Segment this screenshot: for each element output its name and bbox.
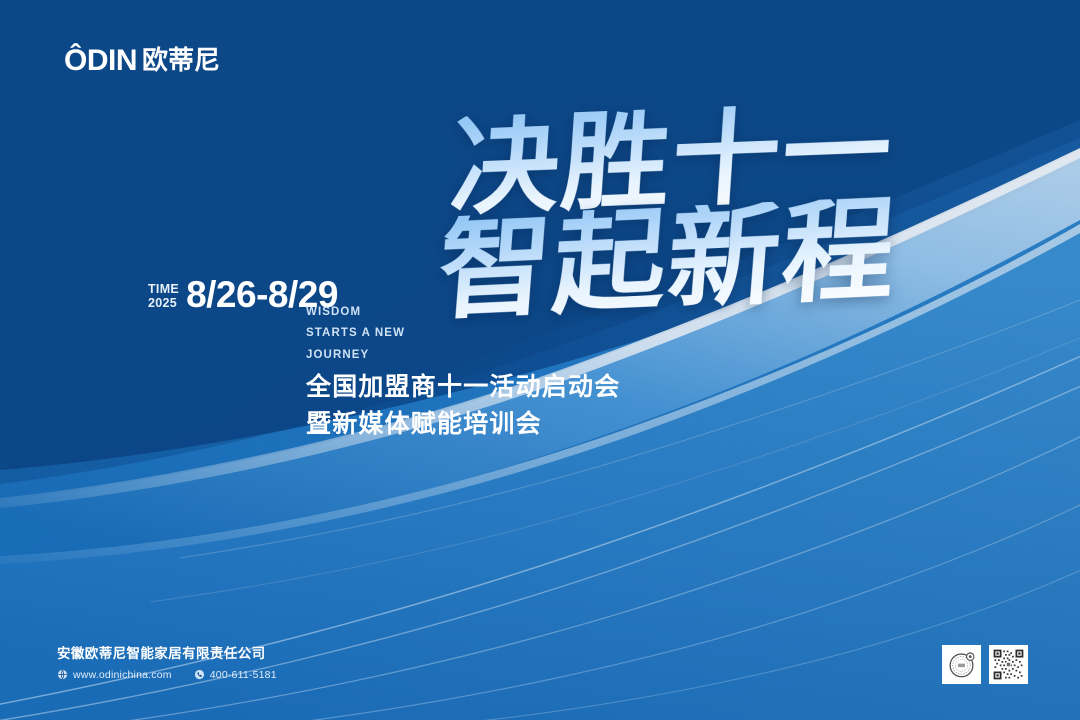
qr-code-icon: [991, 647, 1026, 682]
footer-info: 安徽欧蒂尼智能家居有限责任公司 www.odinichina.com 400-6…: [57, 645, 277, 681]
event-subtitle: 全国加盟商十一活动启动会 暨新媒体赋能培训会: [306, 369, 620, 442]
headline-line-1: 决胜十一: [448, 99, 914, 220]
phone-contact[interactable]: 400-611-5181: [194, 669, 277, 681]
tagline-line-3: JOURNEY: [306, 345, 405, 366]
phone-text: 400-611-5181: [210, 669, 277, 681]
english-tagline: WISDOM STARTS A NEW JOURNEY: [306, 302, 405, 366]
time-label-stack: TIME 2025: [148, 279, 179, 310]
brand-logo[interactable]: ÔDIN 欧蒂尼: [64, 44, 220, 78]
website-text: www.odinichina.com: [73, 669, 172, 681]
logo-chinese-text: 欧蒂尼: [142, 47, 220, 73]
tagline-line-2: STARTS A NEW: [306, 323, 405, 344]
tagline-line-1: WISDOM: [306, 302, 405, 323]
time-label: TIME: [148, 283, 179, 296]
year-label: 2025: [148, 297, 179, 310]
subtitle-line-2: 暨新媒体赋能培训会: [306, 406, 620, 443]
headline-line-2: 智起新程: [435, 195, 915, 324]
subtitle-line-1: 全国加盟商十一活动启动会: [306, 369, 620, 406]
code-tiles: [942, 645, 1028, 684]
seal-icon: [944, 647, 979, 682]
poster-canvas: ÔDIN 欧蒂尼 决胜十一 智起新程 TIME 2025 8/26-8/29 W…: [0, 0, 1080, 720]
company-name: 安徽欧蒂尼智能家居有限责任公司: [57, 645, 277, 663]
wechat-qr-code[interactable]: [989, 645, 1028, 684]
logo-wordmark-text: ÔDIN: [64, 46, 137, 76]
background-artwork: [0, 0, 1080, 720]
phone-icon: [194, 669, 205, 680]
contact-row: www.odinichina.com 400-611-5181: [57, 669, 277, 681]
globe-icon: [57, 669, 68, 680]
website-contact[interactable]: www.odinichina.com: [57, 669, 172, 681]
official-seal-code[interactable]: [942, 645, 981, 684]
logo-wordmark-icon: ÔDIN: [64, 46, 137, 76]
headline-calligraphy: 决胜十一 智起新程: [440, 108, 910, 313]
